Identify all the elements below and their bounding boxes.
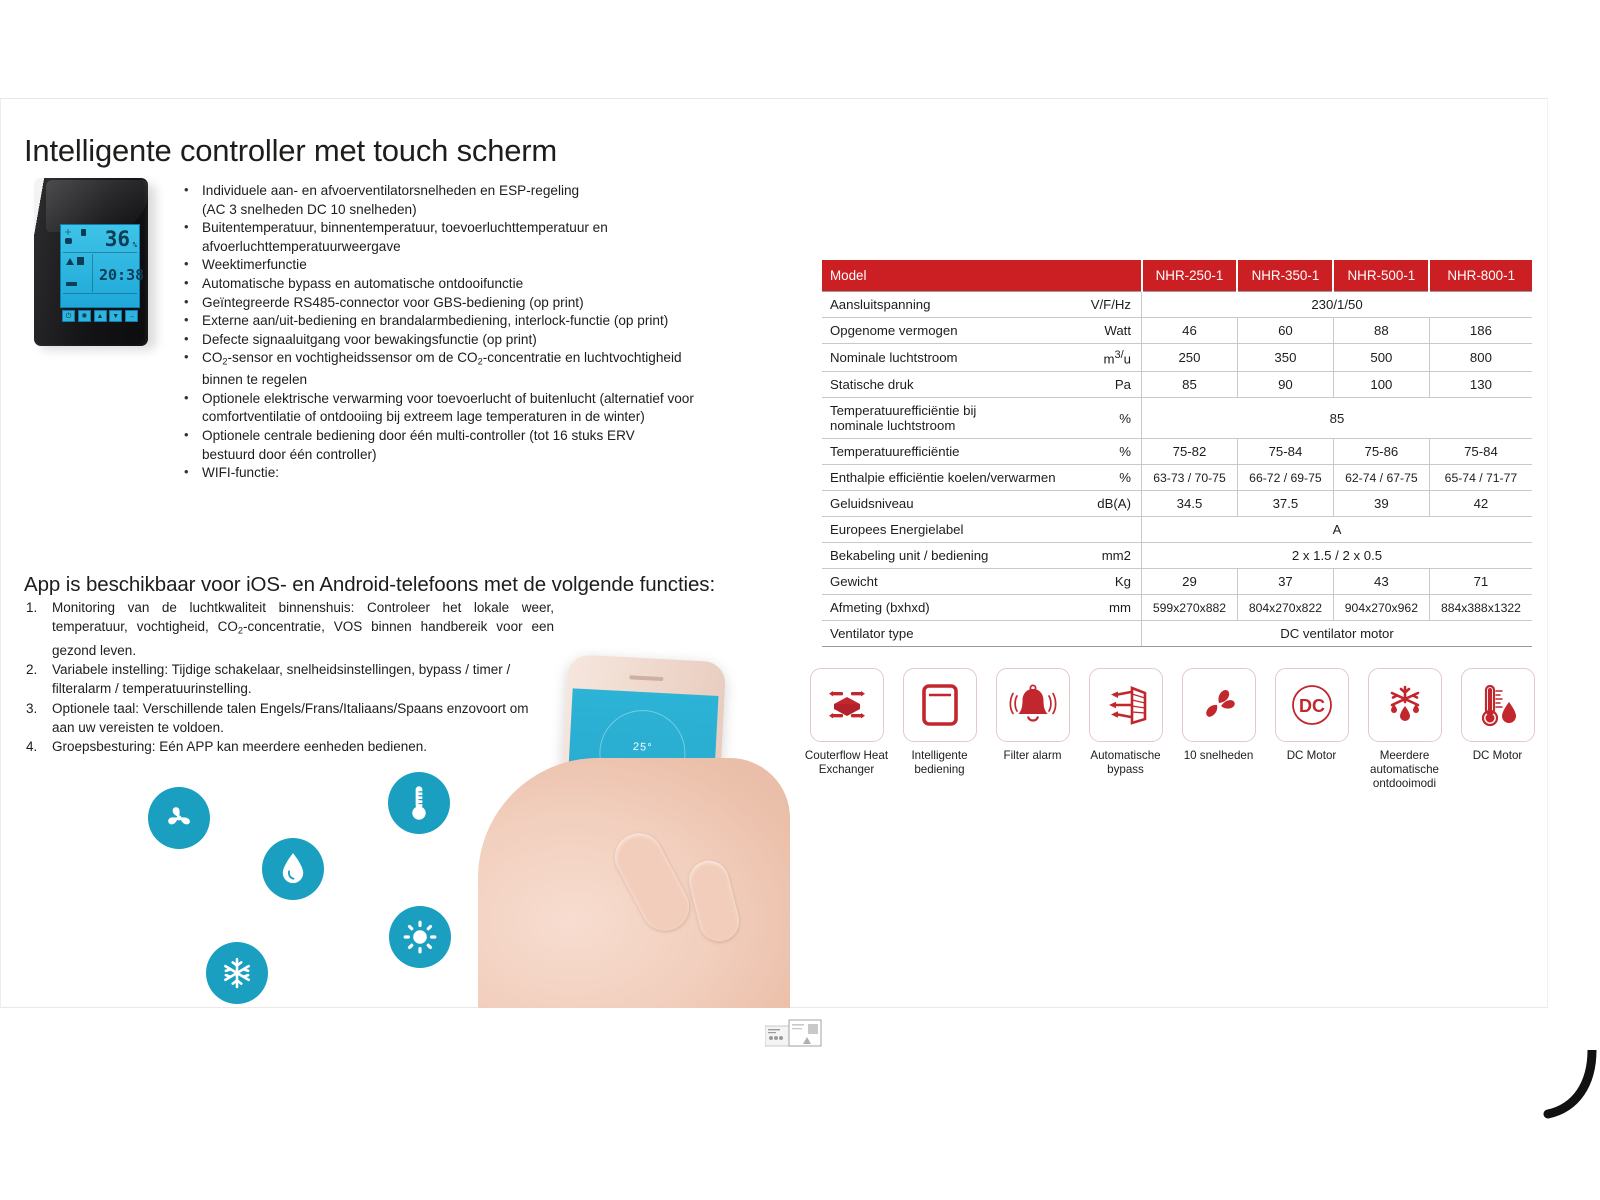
header-col-nhr800: NHR-800-1 <box>1429 260 1532 292</box>
device-body: 36 % 20:38 ⏻ ✺ ▲ ▼ → <box>34 178 148 346</box>
row-value: 88 <box>1333 318 1429 344</box>
dc-circle-icon: DC <box>1287 680 1337 730</box>
feature-icon-strip: Couterflow Heat Exchanger Intelligente b… <box>800 668 1544 791</box>
sun-icon-circle <box>389 906 451 968</box>
water-drop-icon <box>278 852 308 886</box>
row-value: 43 <box>1333 569 1429 595</box>
icon-badge-smart-controller: Intelligente bediening <box>893 668 986 777</box>
icon-caption: DC Motor <box>1451 749 1544 763</box>
snowflake-icon <box>220 956 254 990</box>
row-label: Ventilator type <box>822 621 1079 647</box>
row-unit: mm <box>1079 595 1142 621</box>
icon-box: DC <box>1275 668 1349 742</box>
row-span-value: DC ventilator motor <box>1142 621 1533 647</box>
list-number: 2. <box>26 660 37 679</box>
row-span-value: A <box>1142 517 1533 543</box>
table-row: Temperatuurefficiëntie bijnominale lucht… <box>822 398 1532 439</box>
row-value: 75-82 <box>1142 439 1238 465</box>
feature-item: Automatische bypass en automatische ontd… <box>178 275 764 294</box>
app-section-title: App is beschikbaar voor iOS- en Android-… <box>24 573 715 597</box>
table-row: Enthalpie efficiëntie koelen/verwarmen %… <box>822 465 1532 491</box>
app-function-item: 1. Monitoring van de luchtkwaliteit binn… <box>22 598 554 660</box>
row-unit: % <box>1079 465 1142 491</box>
row-value: 60 <box>1237 318 1333 344</box>
lcd-divider-vertical <box>92 254 93 292</box>
row-label: Geluidsniveau <box>822 491 1079 517</box>
table-row: Opgenome vermogen Watt 46 60 88 186 <box>822 318 1532 344</box>
feature-item: Optionele centrale bediening door één mu… <box>178 427 764 464</box>
feature-bullet-list: Individuele aan- en afvoerventilatorsnel… <box>178 182 764 483</box>
row-value: 350 <box>1237 344 1333 372</box>
lcd-divider-2 <box>63 293 137 294</box>
row-unit: mm2 <box>1079 543 1142 569</box>
row-label: Opgenome vermogen <box>822 318 1079 344</box>
feature-item: WIFI-functie: <box>178 464 764 483</box>
row-value: 75-86 <box>1333 439 1429 465</box>
lcd-clock-value: 20:38 <box>99 268 144 283</box>
feature-item: Geïntegreerde RS485-connector voor GBS-b… <box>178 294 764 313</box>
row-span-value: 230/1/50 <box>1142 292 1533 318</box>
row-unit: % <box>1079 439 1142 465</box>
icon-caption: Meerdere automatische ontdooimodi <box>1358 749 1451 791</box>
down-button[interactable]: ▼ <box>109 310 122 322</box>
fan-button[interactable]: ✺ <box>78 310 91 322</box>
svg-text:DC: DC <box>1299 696 1325 716</box>
table-row: Ventilator type DC ventilator motor <box>822 621 1532 647</box>
set-button[interactable]: → <box>125 310 138 322</box>
row-unit <box>1079 517 1142 543</box>
table-header: Model NHR-250-1 NHR-350-1 NHR-500-1 NHR-… <box>822 260 1532 292</box>
row-label: Gewicht <box>822 569 1079 595</box>
feature-item: CO2-sensor en vochtigheidssensor om de C… <box>178 349 764 389</box>
row-span-value: 2 x 1.5 / 2 x 0.5 <box>1142 543 1533 569</box>
app-function-item: 2. Variabele instelling: Tijdige schakel… <box>22 660 554 699</box>
icon-box <box>1182 668 1256 742</box>
row-value: 75-84 <box>1429 439 1532 465</box>
row-unit: Kg <box>1079 569 1142 595</box>
icon-box <box>1368 668 1442 742</box>
lcd-bar-icon <box>81 229 86 236</box>
row-unit: dB(A) <box>1079 491 1142 517</box>
list-number: 3. <box>26 699 37 718</box>
icon-box <box>996 668 1070 742</box>
water-drop-icon-circle <box>262 838 324 900</box>
row-value: 63-73 / 70-75 <box>1142 465 1238 491</box>
defrost-snowflake-drop-icon <box>1382 682 1428 728</box>
device-button-row[interactable]: ⏻ ✺ ▲ ▼ → <box>62 308 138 323</box>
feature-item: Individuele aan- en afvoerventilatorsnel… <box>178 182 764 219</box>
row-label: Nominale luchtstroom <box>822 344 1079 372</box>
icon-caption: 10 snelheden <box>1172 749 1265 763</box>
list-number: 4. <box>26 737 37 756</box>
row-value: 46 <box>1142 318 1238 344</box>
icon-caption: DC Motor <box>1265 749 1358 763</box>
row-unit: m3/u <box>1079 344 1142 372</box>
table-row: Geluidsniveau dB(A) 34.5 37.5 39 42 <box>822 491 1532 517</box>
feature-item: Optionele elektrische verwarming voor to… <box>178 390 764 427</box>
table-row: Afmeting (bxhxd) mm 599x270x882 804x270x… <box>822 595 1532 621</box>
row-value: 39 <box>1333 491 1429 517</box>
lcd-bypass-icon <box>66 258 74 265</box>
icon-caption: Filter alarm <box>986 749 1079 763</box>
phone-degree-symbol: ° <box>647 742 653 754</box>
row-value: 66-72 / 69-75 <box>1237 465 1333 491</box>
lcd-fan-icon <box>65 238 72 244</box>
row-value: 804x270x822 <box>1237 595 1333 621</box>
app-function-item: 3. Optionele taal: Verschillende talen E… <box>22 699 554 738</box>
row-label: Afmeting (bxhxd) <box>822 595 1079 621</box>
row-value: 65-74 / 71-77 <box>1429 465 1532 491</box>
table-row: Nominale luchtstroom m3/u 250 350 500 80… <box>822 344 1532 372</box>
icon-box <box>810 668 884 742</box>
specification-table: Model NHR-250-1 NHR-350-1 NHR-500-1 NHR-… <box>822 260 1532 647</box>
bell-icon <box>1007 682 1059 728</box>
up-button[interactable]: ▲ <box>94 310 107 322</box>
thermometer-icon <box>407 784 431 822</box>
row-unit: V/F/Hz <box>1079 292 1142 318</box>
feature-item: Weektimerfunctie <box>178 256 764 275</box>
feature-item: Buitentemperatuur, binnentemperatuur, to… <box>178 219 764 256</box>
corner-swoosh-decoration <box>1488 1050 1598 1170</box>
row-value: 500 <box>1333 344 1429 372</box>
row-label: Enthalpie efficiëntie koelen/verwarmen <box>822 465 1079 491</box>
icon-badge-10-speeds: 10 snelheden <box>1172 668 1265 763</box>
row-value: 250 <box>1142 344 1238 372</box>
row-value: 130 <box>1429 372 1532 398</box>
row-label: Europees Energielabel <box>822 517 1079 543</box>
row-value: 904x270x962 <box>1333 595 1429 621</box>
icon-badge-dc-motor: DC DC Motor <box>1265 668 1358 763</box>
thermometer-icon-circle <box>388 772 450 834</box>
table-row: Europees Energielabel A <box>822 517 1532 543</box>
lcd-main-value: 36 <box>105 229 130 250</box>
icon-badge-bypass: Automatische bypass <box>1079 668 1172 777</box>
row-value: 29 <box>1142 569 1238 595</box>
icon-badge-counterflow: Couterflow Heat Exchanger <box>800 668 893 777</box>
icon-box <box>903 668 977 742</box>
row-value: 884x388x1322 <box>1429 595 1532 621</box>
table-row: Gewicht Kg 29 37 43 71 <box>822 569 1532 595</box>
fan-icon-circle <box>148 787 210 849</box>
table-row: Aansluitspanning V/F/Hz 230/1/50 <box>822 292 1532 318</box>
row-value: 100 <box>1333 372 1429 398</box>
snowflake-icon-circle <box>206 942 268 1004</box>
lcd-timer-icon <box>66 282 77 286</box>
sun-icon <box>402 919 438 955</box>
page-thumbnail-graphic <box>765 1018 823 1050</box>
row-value: 75-84 <box>1237 439 1333 465</box>
controller-device-photo: 36 % 20:38 ⏻ ✺ ▲ ▼ → <box>34 178 156 350</box>
row-value: 800 <box>1429 344 1532 372</box>
bypass-damper-icon <box>1101 683 1151 727</box>
counterflow-heat-exchanger-icon <box>822 683 872 727</box>
phone-temp-value: 25 <box>633 741 648 754</box>
thermometer-drop-icon <box>1475 680 1521 730</box>
row-label: Statische druk <box>822 372 1079 398</box>
feature-item: Externe aan/uit-bediening en brandalarmb… <box>178 312 764 331</box>
row-label: Temperatuurefficiëntie <box>822 439 1079 465</box>
lcd-mode-icon <box>77 257 84 265</box>
page-title: Intelligente controller met touch scherm <box>24 133 557 169</box>
lcd-main-unit: % <box>133 242 137 249</box>
header-model: Model <box>822 260 1079 292</box>
app-function-list: 1. Monitoring van de luchtkwaliteit binn… <box>22 598 554 757</box>
list-number: 1. <box>26 598 37 617</box>
icon-badge-defrost: Meerdere automatische ontdooimodi <box>1358 668 1451 791</box>
icon-badge-thermometer-drop: DC Motor <box>1451 668 1544 763</box>
device-lcd-screen: 36 % 20:38 <box>60 224 140 308</box>
row-value: 37.5 <box>1237 491 1333 517</box>
header-unit <box>1079 260 1142 292</box>
header-col-nhr350: NHR-350-1 <box>1237 260 1333 292</box>
row-value: 599x270x882 <box>1142 595 1238 621</box>
row-value: 85 <box>1142 372 1238 398</box>
row-value: 37 <box>1237 569 1333 595</box>
table-header-row: Model NHR-250-1 NHR-350-1 NHR-500-1 NHR-… <box>822 260 1532 292</box>
icon-caption: Intelligente bediening <box>893 749 986 777</box>
row-value: 71 <box>1429 569 1532 595</box>
table-row: Statische druk Pa 85 90 100 130 <box>822 372 1532 398</box>
app-function-item: 4. Groepsbesturing: Eén APP kan meerdere… <box>22 737 554 756</box>
row-value: 34.5 <box>1142 491 1238 517</box>
row-label: Bekabeling unit / bediening <box>822 543 1079 569</box>
row-value: 186 <box>1429 318 1532 344</box>
fan-icon <box>162 801 196 835</box>
row-unit: % <box>1079 398 1142 439</box>
row-unit <box>1079 621 1142 647</box>
header-col-nhr250: NHR-250-1 <box>1142 260 1238 292</box>
row-unit: Pa <box>1079 372 1142 398</box>
row-value: 42 <box>1429 491 1532 517</box>
table-body: Aansluitspanning V/F/Hz 230/1/50 Opgenom… <box>822 292 1532 647</box>
fan-blades-icon <box>1197 683 1241 727</box>
power-button[interactable]: ⏻ <box>62 310 75 322</box>
row-value: 90 <box>1237 372 1333 398</box>
icon-box <box>1089 668 1163 742</box>
table-row: Bekabeling unit / bediening mm2 2 x 1.5 … <box>822 543 1532 569</box>
lcd-snowflake-icon <box>65 229 71 235</box>
table-row: Temperatuurefficiëntie % 75-82 75-84 75-… <box>822 439 1532 465</box>
icon-caption: Couterflow Heat Exchanger <box>800 749 893 777</box>
row-label: Temperatuurefficiëntie bijnominale lucht… <box>822 398 1079 439</box>
icon-caption: Automatische bypass <box>1079 749 1172 777</box>
row-value: 62-74 / 67-75 <box>1333 465 1429 491</box>
phone-earpiece <box>629 675 663 681</box>
row-span-value: 85 <box>1142 398 1533 439</box>
icon-box <box>1461 668 1535 742</box>
header-col-nhr500: NHR-500-1 <box>1333 260 1429 292</box>
feature-item: Defecte signaaluitgang voor bewakingsfun… <box>178 331 764 350</box>
row-label: Aansluitspanning <box>822 292 1079 318</box>
phone-in-hand-photo: 25° Auto Mode Outdoor Temperature25° Fil… <box>478 648 790 1008</box>
row-unit: Watt <box>1079 318 1142 344</box>
lcd-divider-1 <box>63 252 137 253</box>
icon-badge-filter-alarm: Filter alarm <box>986 668 1079 763</box>
smart-controller-icon <box>920 682 960 728</box>
